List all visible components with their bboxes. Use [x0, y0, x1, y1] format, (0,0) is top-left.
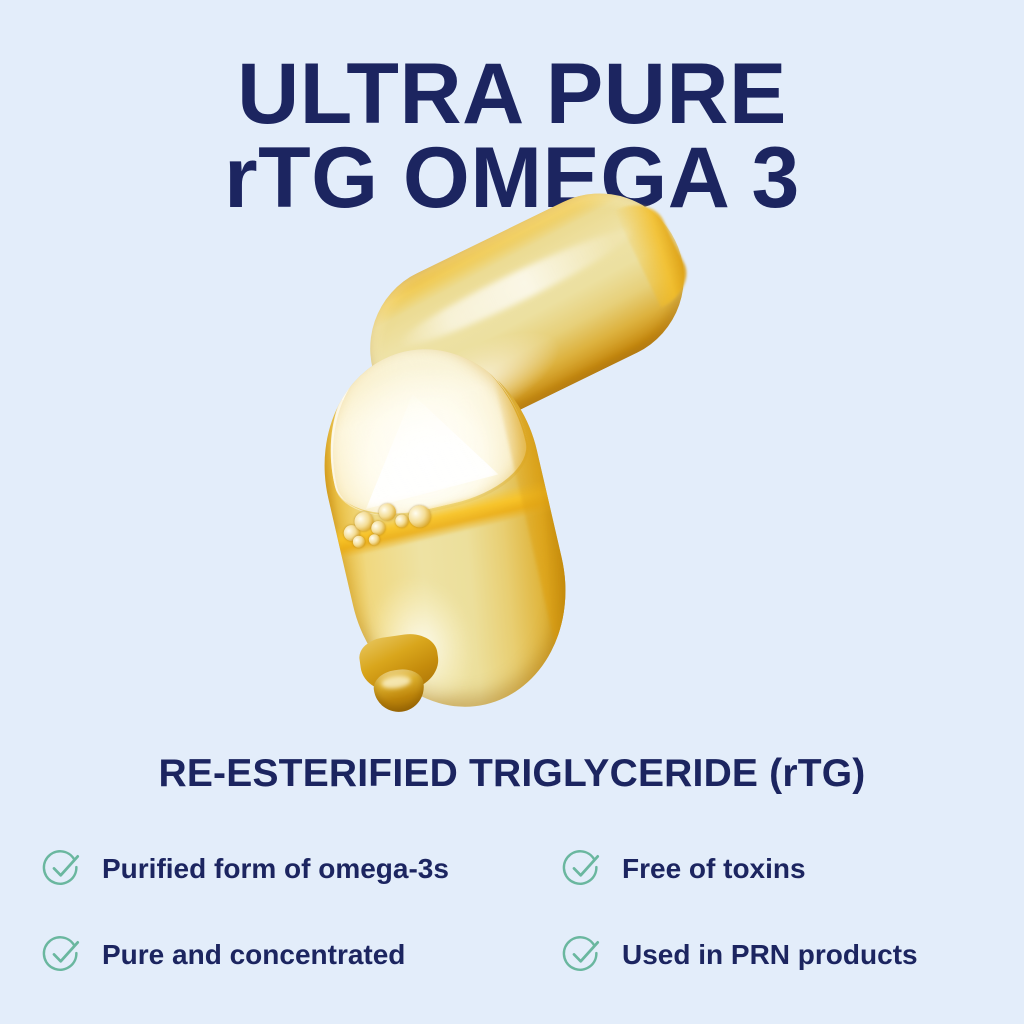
bullet-label: Used in PRN products — [622, 939, 918, 971]
bullet-item: Purified form of omega-3s — [42, 848, 562, 890]
product-infographic: ULTRA PURE rTG OMEGA 3 — [0, 0, 1024, 1024]
bullet-item: Free of toxins — [562, 848, 982, 890]
check-circle-icon — [42, 848, 84, 890]
bullet-label: Pure and concentrated — [102, 939, 405, 971]
oil-bubble — [394, 513, 410, 529]
subtitle: RE-ESTERIFIED TRIGLYCERIDE (rTG) — [0, 752, 1024, 796]
capsule-stage — [300, 215, 760, 725]
oil-bubble — [368, 533, 381, 546]
title-line-1: ULTRA PURE — [0, 52, 1024, 136]
title-line-2: rTG OMEGA 3 — [0, 136, 1024, 220]
bullet-item: Used in PRN products — [562, 934, 982, 976]
check-circle-icon — [562, 848, 604, 890]
capsule-oil-drip — [351, 629, 457, 720]
check-circle-icon — [562, 934, 604, 976]
page-title: ULTRA PURE rTG OMEGA 3 — [0, 52, 1024, 220]
oil-bubble — [406, 503, 432, 529]
bullet-label: Free of toxins — [622, 853, 806, 885]
bullet-label: Purified form of omega-3s — [102, 853, 449, 885]
check-circle-icon — [42, 934, 84, 976]
product-image — [0, 215, 1024, 725]
oil-bubble — [352, 534, 366, 548]
bullet-item: Pure and concentrated — [42, 934, 562, 976]
feature-bullet-list: Purified form of omega-3s Free of toxins… — [42, 826, 992, 998]
